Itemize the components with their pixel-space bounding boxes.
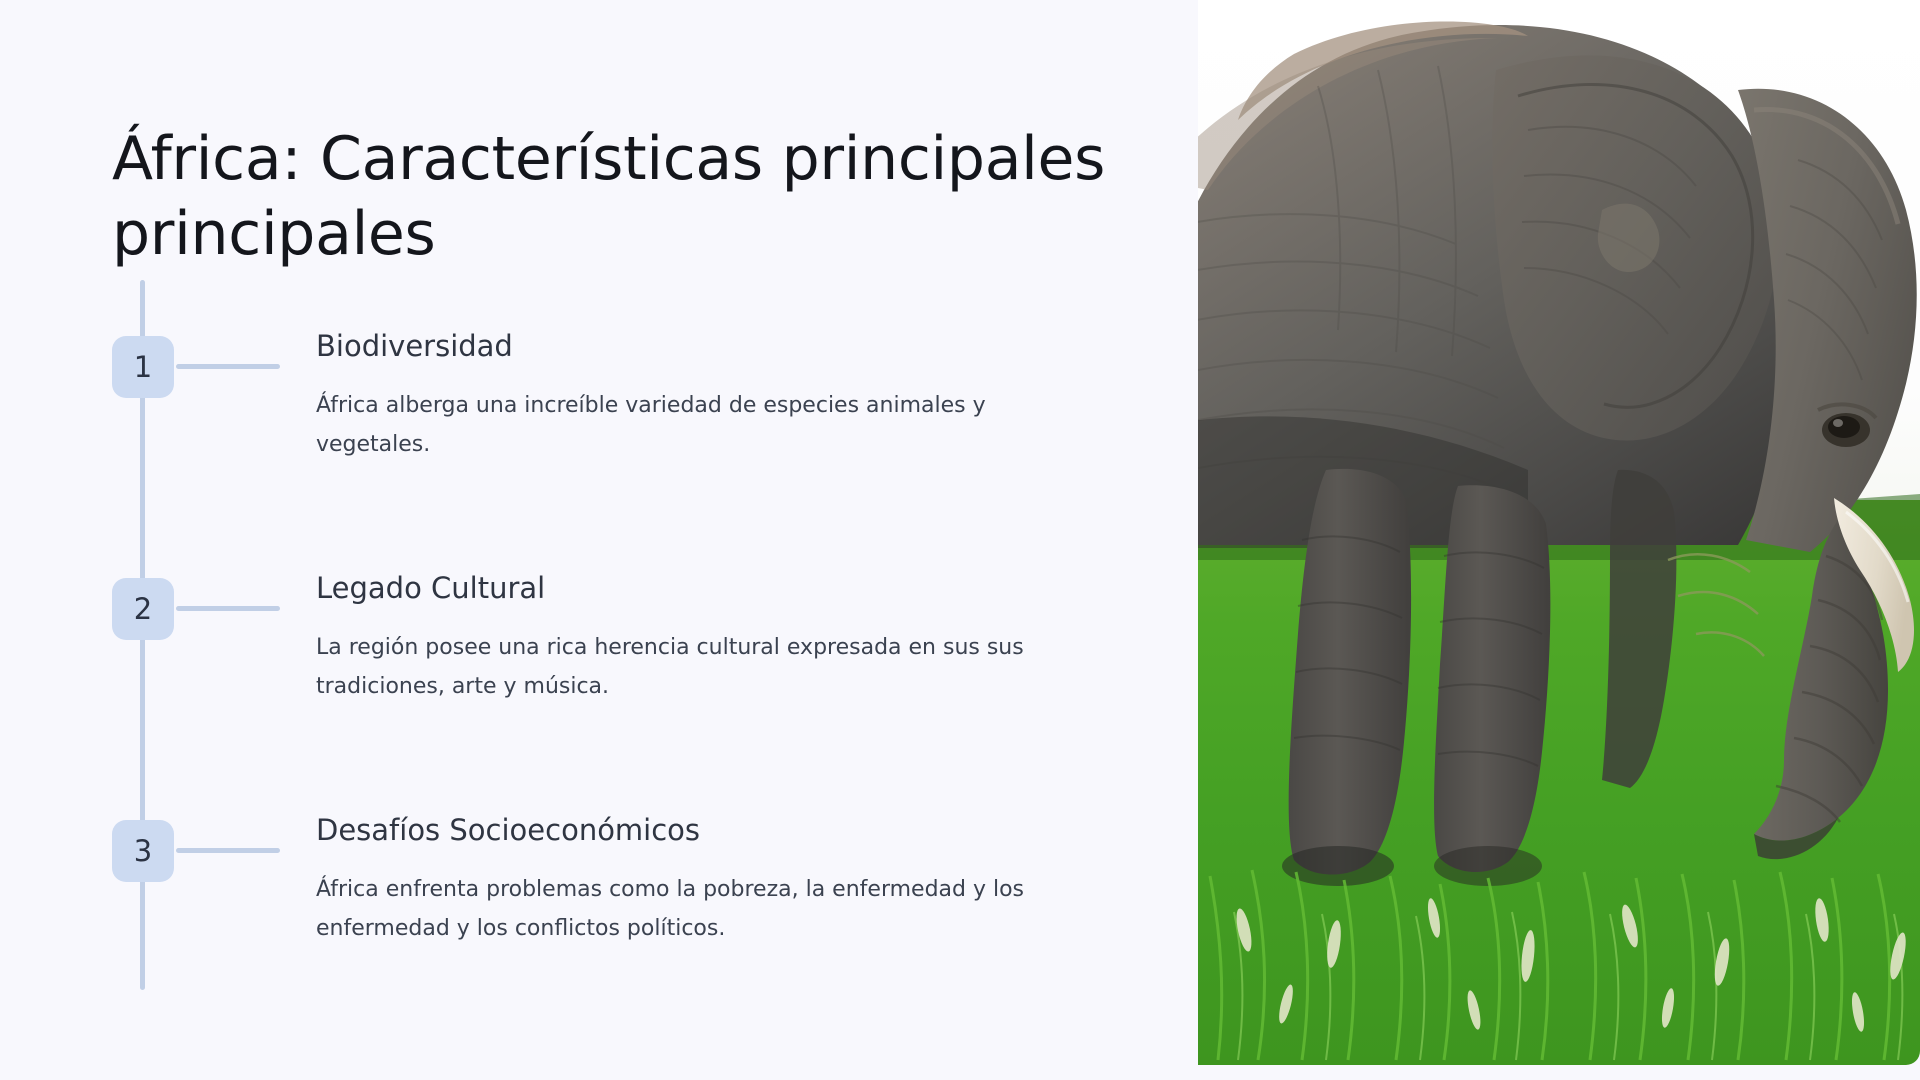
timeline-number-badge: 1 [112,336,174,398]
timeline-item-heading: Legado Cultural [316,570,1116,608]
timeline-number-badge: 3 [112,820,174,882]
slide-image-panel [1198,0,1920,1065]
timeline-connector-line [176,364,280,369]
timeline-item-heading: Desafíos Socioeconómicos [316,812,1116,850]
timeline-item-body: Biodiversidad África alberga una increíb… [316,328,1116,464]
elephant-photo [1198,0,1920,1065]
timeline-connector-line [176,606,280,611]
timeline-item-description: África alberga una increíble variedad de… [316,386,1086,464]
timeline-item-2[interactable]: 2 Legado Cultural La región posee una ri… [0,522,1198,722]
timeline-item-heading: Biodiversidad [316,328,1116,366]
elephant-photo-illustration [1198,0,1920,1065]
timeline-item-body: Desafíos Socioeconómicos África enfrenta… [316,812,1116,948]
timeline-connector-line [176,848,280,853]
timeline-item-body: Legado Cultural La región posee una rica… [316,570,1116,706]
presentation-slide: África: Características principales prin… [0,0,1920,1080]
timeline-item-3[interactable]: 3 Desafíos Socioeconómicos África enfren… [0,764,1198,964]
timeline-item-1[interactable]: 1 Biodiversidad África alberga una incre… [0,280,1198,480]
timeline-number-badge: 2 [112,578,174,640]
content-panel: África: Características principales prin… [0,0,1198,1080]
page-title: África: Características principales prin… [112,122,1122,271]
timeline-item-description: La región posee una rica herencia cultur… [316,628,1086,706]
timeline-item-description: África enfrenta problemas como la pobrez… [316,870,1086,948]
